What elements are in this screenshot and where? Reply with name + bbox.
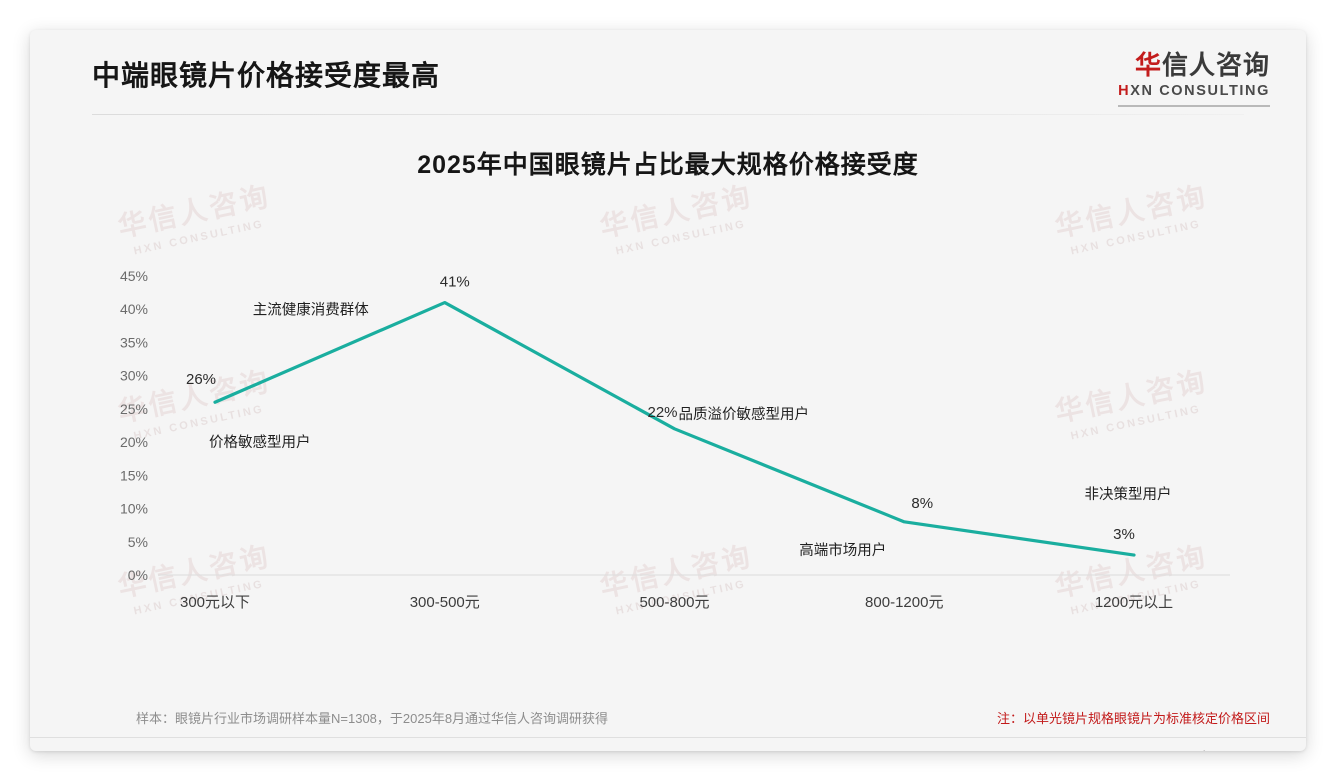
data-point-annotation: 主流健康消费群体 xyxy=(253,302,369,319)
logo-underline xyxy=(1118,105,1270,107)
data-point-value-label: 26% xyxy=(186,371,216,388)
sample-note: 样本：眼镜片行业市场调研样本量N=1308，于2025年8月通过华信人咨询调研获… xyxy=(136,708,608,727)
slide-card: 华信人咨询 HXN CONSULTING 华信人咨询 HXN CONSULTIN… xyxy=(30,30,1306,751)
data-point-value-label: 8% xyxy=(911,495,933,512)
x-axis-tick-label: 500-800元 xyxy=(639,594,709,611)
header-divider xyxy=(92,114,1244,115)
line-chart: 0%5%10%15%20%25%30%35%40%45%300元以下300-50… xyxy=(30,30,1306,751)
logo-cn-rest: 信人咨询 xyxy=(1162,50,1270,80)
red-note: 注：以单光镜片规格眼镜片为标准核定价格区间 xyxy=(997,708,1270,727)
slide-header: 中端眼镜片价格接受度最高 华信人咨询 HXN CONSULTING xyxy=(30,30,1306,118)
logo-cn-accent: 华 xyxy=(1135,50,1162,80)
footer-divider xyxy=(30,737,1306,738)
data-point-annotation: 非决策型用户 xyxy=(1085,486,1172,503)
y-axis-tick-label: 40% xyxy=(120,301,148,317)
y-axis-tick-label: 5% xyxy=(128,534,148,550)
logo-en-rest: XN CONSULTING xyxy=(1130,83,1270,99)
copyright-text: ©2025.10 HXR华信人咨询 xyxy=(40,748,193,751)
y-axis-tick-label: 20% xyxy=(120,434,148,450)
y-axis-tick-label: 0% xyxy=(128,567,148,583)
y-axis-tick-label: 10% xyxy=(120,501,148,517)
x-axis-tick-label: 300元以下 xyxy=(180,594,250,611)
data-point-annotation: 价格敏感型用户 xyxy=(209,434,311,451)
brand-logo: 华信人咨询 HXN CONSULTING xyxy=(1118,52,1270,107)
data-point-annotation: 品质溢价敏感型用户 xyxy=(679,406,810,423)
y-axis-tick-label: 15% xyxy=(120,467,148,483)
data-point-value-label: 41% xyxy=(440,274,470,291)
website-text: www.hxrcon.com xyxy=(1172,748,1270,751)
x-axis-tick-label: 300-500元 xyxy=(410,594,480,611)
chart-area: 0%5%10%15%20%25%30%35%40%45%300元以下300-50… xyxy=(30,30,1306,751)
y-axis-tick-label: 45% xyxy=(120,268,148,284)
data-point-value-label: 3% xyxy=(1113,526,1135,543)
chart-title: 2025年中国眼镜片占比最大规格价格接受度 xyxy=(30,145,1306,181)
x-axis-tick-label: 800-1200元 xyxy=(865,594,943,611)
logo-english: HXN CONSULTING xyxy=(1118,83,1270,99)
logo-en-accent: H xyxy=(1118,83,1130,99)
logo-chinese: 华信人咨询 xyxy=(1118,52,1270,79)
x-axis-tick-label: 1200元以上 xyxy=(1095,594,1173,611)
data-point-value-label: 22% xyxy=(647,404,677,421)
series-line xyxy=(215,303,1134,555)
data-point-annotation: 高端市场用户 xyxy=(799,542,886,559)
y-axis-tick-label: 35% xyxy=(120,334,148,350)
page-title: 中端眼镜片价格接受度最高 xyxy=(92,54,440,94)
y-axis-tick-label: 25% xyxy=(120,401,148,417)
y-axis-tick-label: 30% xyxy=(120,368,148,384)
